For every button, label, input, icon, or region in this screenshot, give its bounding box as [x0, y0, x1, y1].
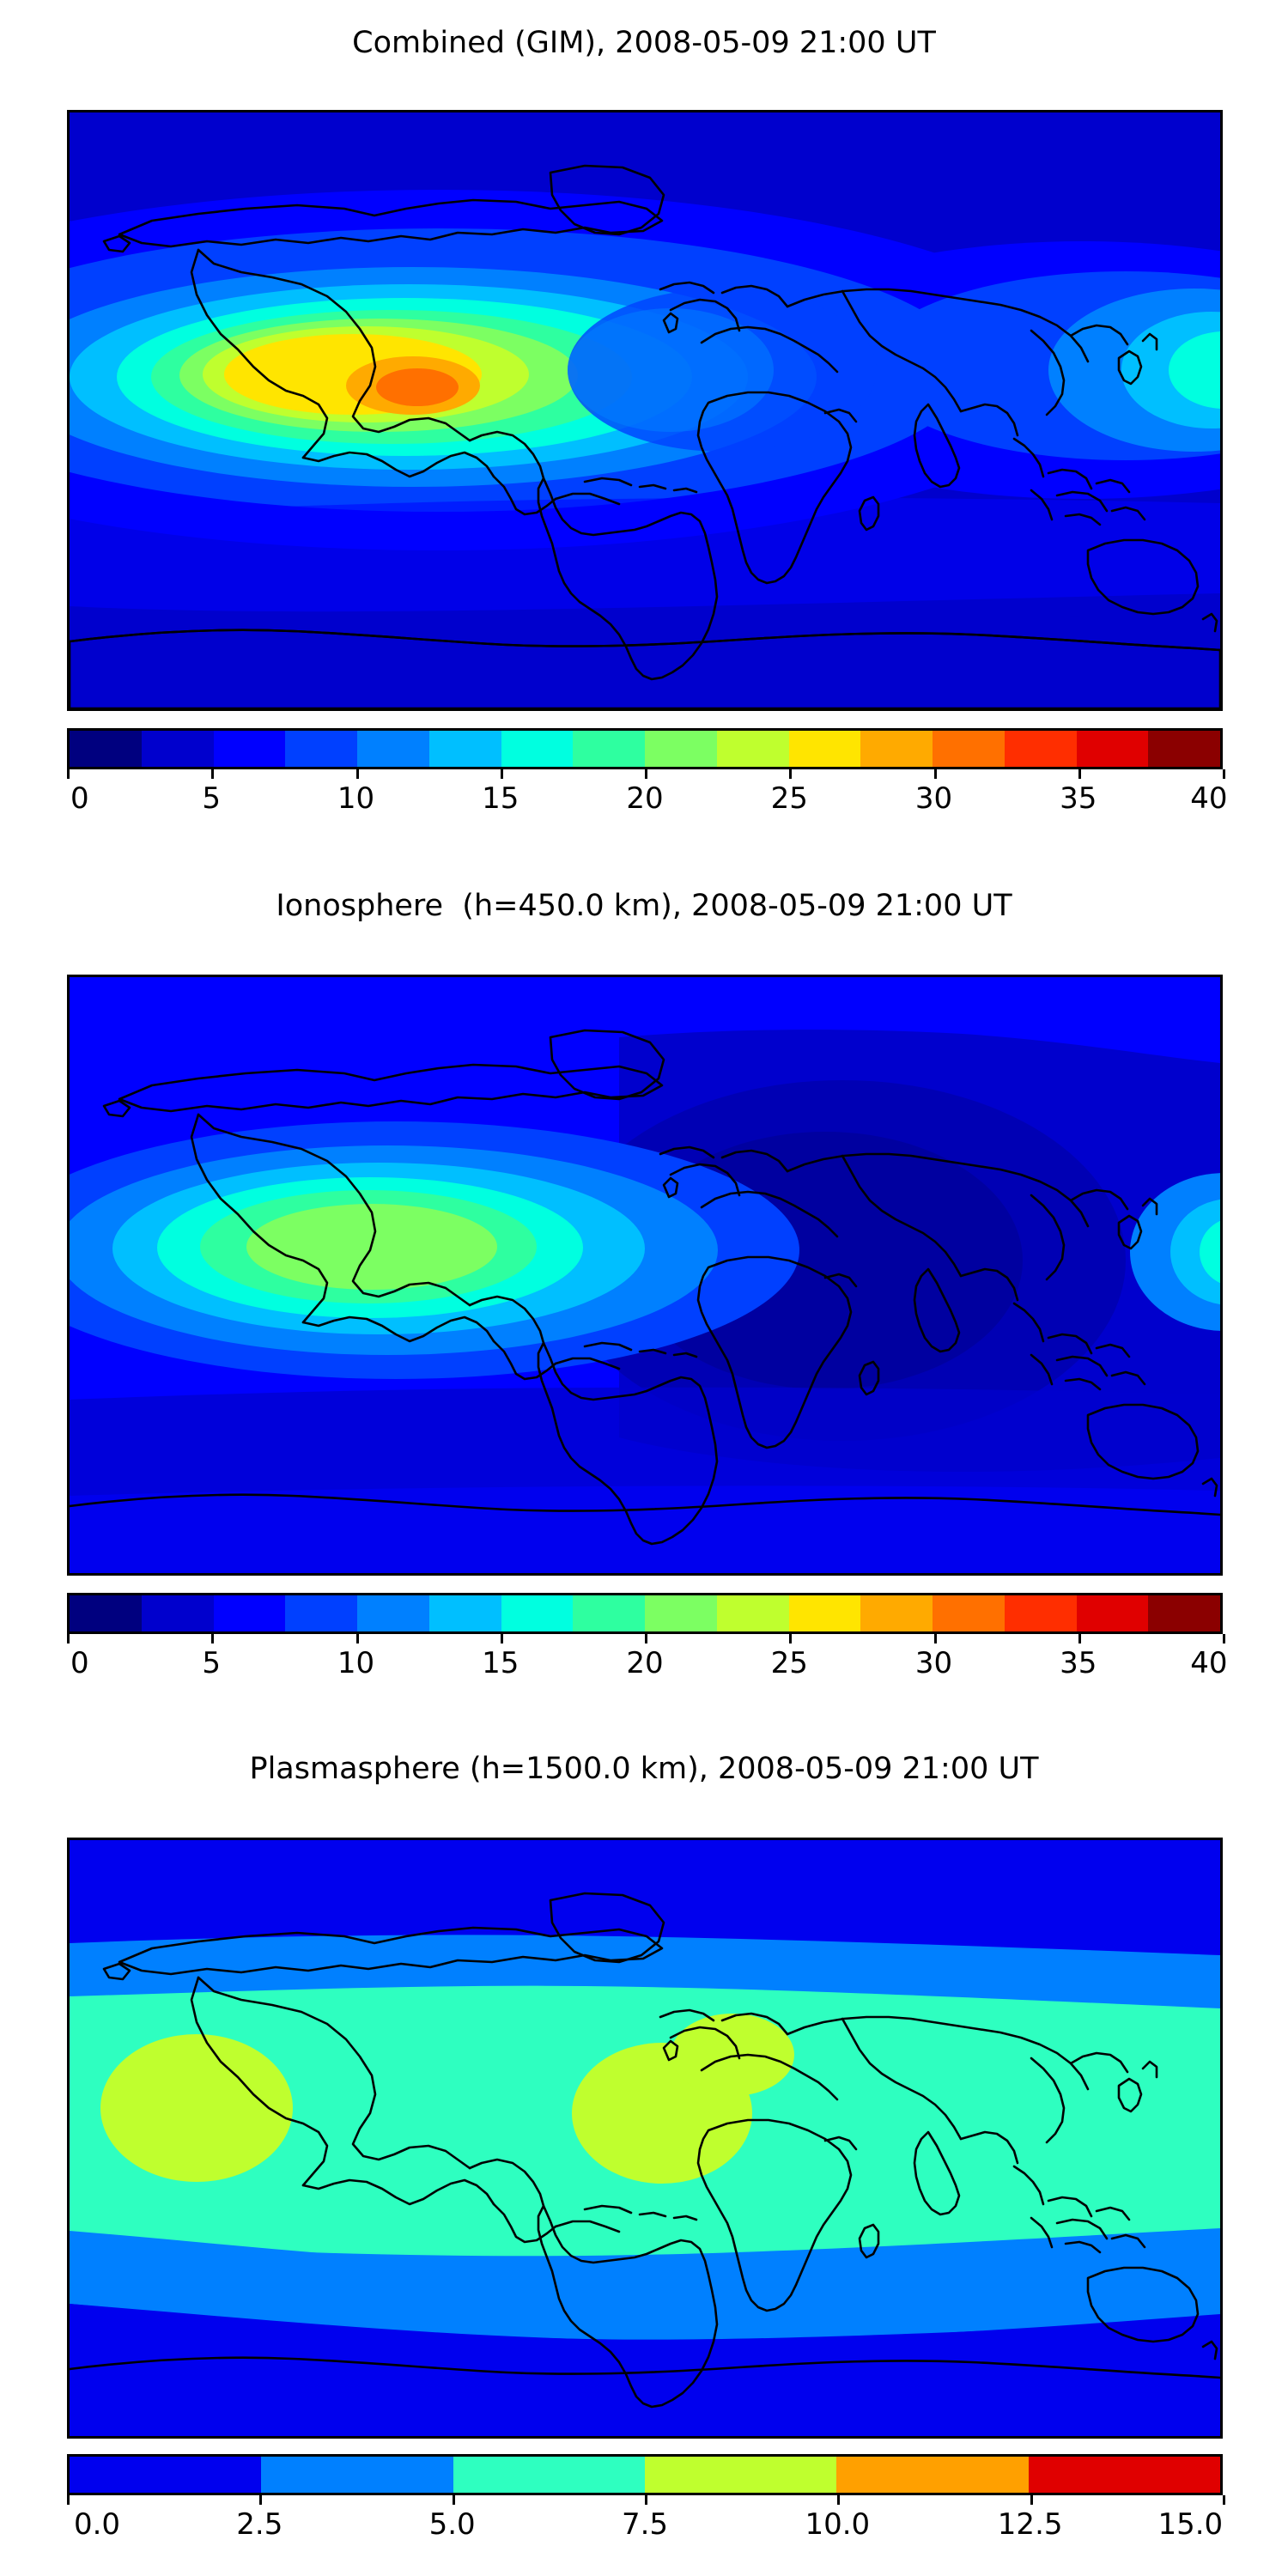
colorbar-tick — [934, 1634, 937, 1643]
colorbar-tick — [789, 769, 792, 779]
colorbar-segment — [261, 2457, 453, 2493]
colorbar-tick — [1223, 769, 1225, 779]
colorbar-tick — [67, 2495, 70, 2505]
colorbar-tick — [1078, 1634, 1081, 1643]
colorbar-tick-label: 7.5 — [622, 2507, 668, 2542]
colorbar-tick — [67, 769, 70, 779]
colorbar-tick — [645, 1634, 647, 1643]
colorbar-segment — [70, 2457, 261, 2493]
colorbar-tick-label: 12.5 — [998, 2507, 1063, 2542]
colorbar-tick-label: 15 — [482, 781, 519, 816]
colorbar-tick-label: 5 — [202, 781, 221, 816]
colorbar-segment — [933, 731, 1005, 767]
colorbar-segment — [429, 1595, 501, 1631]
figure-canvas: Combined (GIM), 2008-05-09 21:00 UT — [0, 0, 1288, 2576]
colorbar-tick-label: 15 — [482, 1646, 519, 1680]
colorbar-tick — [934, 769, 937, 779]
colorbar-tick — [1078, 769, 1081, 779]
colorbar-tick-label: 30 — [915, 781, 952, 816]
colorbar-segment — [789, 1595, 861, 1631]
colorbar-segment — [1005, 1595, 1077, 1631]
colorbar-combined-axis: 0 5 10 15 20 25 30 35 40 — [67, 769, 1223, 821]
panel-combined: Combined (GIM), 2008-05-09 21:00 UT — [0, 26, 1288, 60]
map-plasmasphere-svg — [70, 1840, 1220, 2436]
colorbar-tick-label: 2.5 — [236, 2507, 283, 2542]
colorbar-segment — [214, 1595, 286, 1631]
colorbar-ionosphere: 0 5 10 15 20 25 30 35 40 — [67, 1593, 1223, 1704]
panel-ionosphere: Ionosphere (h=450.0 km), 2008-05-09 21:0… — [0, 889, 1288, 923]
colorbar-tick-label: 5 — [202, 1646, 221, 1680]
colorbar-segment — [357, 731, 429, 767]
colorbar-tick-label: 0.0 — [74, 2507, 120, 2542]
colorbar-ionosphere-axis: 0 5 10 15 20 25 30 35 40 — [67, 1634, 1223, 1686]
colorbar-plasmasphere-axis: 0.0 2.5 5.0 7.5 10.0 12.5 15.0 — [67, 2495, 1223, 2547]
map-ionosphere — [67, 975, 1223, 1576]
map-plasmasphere — [67, 1838, 1223, 2439]
colorbar-tick-label: 10 — [337, 781, 374, 816]
colorbar-tick — [789, 1634, 792, 1643]
colorbar-tick — [211, 769, 214, 779]
map-combined-canvas — [70, 112, 1220, 708]
map-plasmasphere-canvas — [70, 1840, 1220, 2436]
colorbar-segment — [860, 731, 933, 767]
colorbar-tick-label: 0 — [70, 1646, 89, 1680]
panel-title-plasmasphere: Plasmasphere (h=1500.0 km), 2008-05-09 2… — [0, 1752, 1288, 1786]
colorbar-tick — [211, 1634, 214, 1643]
colorbar-segment — [1077, 731, 1149, 767]
colorbar-segment — [142, 1595, 214, 1631]
colorbar-tick-label: 10 — [337, 1646, 374, 1680]
colorbar-segment — [429, 731, 501, 767]
colorbar-tick — [837, 2495, 840, 2505]
map-combined — [67, 110, 1223, 711]
colorbar-tick — [453, 2495, 455, 2505]
colorbar-segment — [1148, 731, 1220, 767]
colorbar-tick — [67, 1634, 70, 1643]
colorbar-segment — [717, 731, 789, 767]
colorbar-tick-label: 25 — [771, 781, 808, 816]
colorbar-segment — [214, 731, 286, 767]
colorbar-tick — [645, 769, 647, 779]
colorbar-segment — [1077, 1595, 1149, 1631]
panel-plasmasphere: Plasmasphere (h=1500.0 km), 2008-05-09 2… — [0, 1752, 1288, 1786]
colorbar-segment — [933, 1595, 1005, 1631]
colorbar-segment — [860, 1595, 933, 1631]
colorbar-tick-label: 40 — [1190, 1646, 1227, 1680]
map-ionosphere-canvas — [70, 977, 1220, 1573]
colorbar-combined-strip — [67, 728, 1223, 769]
colorbar-tick — [356, 769, 359, 779]
colorbar-segment — [501, 1595, 574, 1631]
colorbar-tick — [1030, 2495, 1033, 2505]
colorbar-tick-label: 30 — [915, 1646, 952, 1680]
colorbar-segment — [70, 731, 142, 767]
colorbar-segment — [285, 731, 357, 767]
panel-title-ionosphere: Ionosphere (h=450.0 km), 2008-05-09 21:0… — [0, 889, 1288, 923]
colorbar-tick — [1223, 2495, 1225, 2505]
colorbar-segment — [836, 2457, 1028, 2493]
colorbar-segment — [645, 1595, 717, 1631]
colorbar-segment — [1148, 1595, 1220, 1631]
colorbar-segment — [501, 731, 574, 767]
colorbar-ionosphere-strip — [67, 1593, 1223, 1634]
colorbar-tick — [1223, 1634, 1225, 1643]
colorbar-segment — [285, 1595, 357, 1631]
colorbar-tick-label: 15.0 — [1157, 2507, 1223, 2542]
colorbar-tick-label: 20 — [626, 1646, 663, 1680]
colorbar-tick-label: 25 — [771, 1646, 808, 1680]
colorbar-tick-label: 20 — [626, 781, 663, 816]
colorbar-tick-label: 10.0 — [805, 2507, 870, 2542]
colorbar-tick — [645, 2495, 647, 2505]
colorbar-segment — [573, 1595, 645, 1631]
colorbar-plasmasphere-strip — [67, 2454, 1223, 2495]
colorbar-tick — [259, 2495, 262, 2505]
colorbar-segment — [70, 1595, 142, 1631]
colorbar-segment — [453, 2457, 645, 2493]
colorbar-combined: 0 5 10 15 20 25 30 35 40 — [67, 728, 1223, 840]
colorbar-segment — [645, 2457, 836, 2493]
map-combined-svg — [70, 112, 1220, 708]
colorbar-segment — [1005, 731, 1077, 767]
map-ionosphere-svg — [70, 977, 1220, 1573]
colorbar-tick-label: 35 — [1060, 1646, 1097, 1680]
colorbar-segment — [357, 1595, 429, 1631]
colorbar-tick — [501, 769, 503, 779]
colorbar-plasmasphere: 0.0 2.5 5.0 7.5 10.0 12.5 15.0 — [67, 2454, 1223, 2566]
colorbar-segment — [142, 731, 214, 767]
colorbar-segment — [573, 731, 645, 767]
colorbar-segment — [645, 731, 717, 767]
colorbar-segment — [717, 1595, 789, 1631]
colorbar-segment — [1029, 2457, 1220, 2493]
colorbar-segment — [789, 731, 861, 767]
colorbar-tick — [356, 1634, 359, 1643]
colorbar-tick-label: 40 — [1190, 781, 1227, 816]
colorbar-tick-label: 35 — [1060, 781, 1097, 816]
colorbar-tick-label: 5.0 — [429, 2507, 476, 2542]
colorbar-tick — [501, 1634, 503, 1643]
panel-title-combined: Combined (GIM), 2008-05-09 21:00 UT — [0, 26, 1288, 60]
colorbar-tick-label: 0 — [70, 781, 89, 816]
